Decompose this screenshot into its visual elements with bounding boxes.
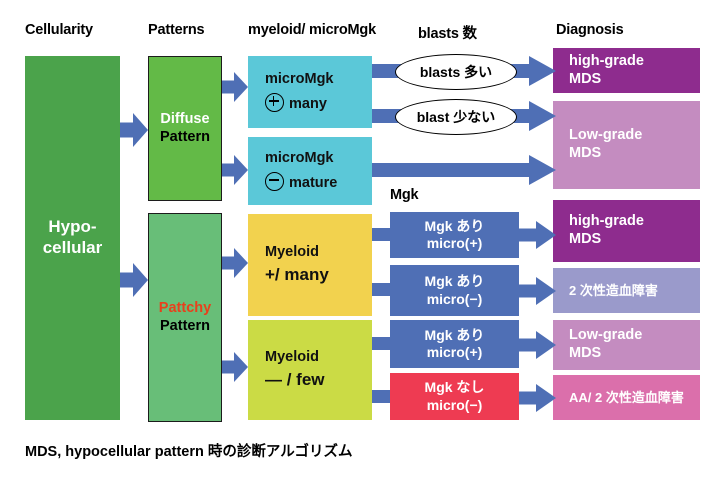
node-micromgk-plus-line2: many [289, 96, 327, 112]
node-micromgk-minus-line1: microMgk [265, 150, 372, 168]
node-diffuse-pattern-line2: Pattern [160, 129, 210, 147]
column-header-myeloid-micromgk: myeloid/ microMgk [248, 22, 376, 38]
node-diagnosis-low-grade-mds-1[interactable]: Low-grade MDS [553, 101, 700, 189]
arrow-pattchy-to-myeloid-many [222, 248, 250, 278]
node-dx-5-line1: Low-grade [569, 327, 700, 345]
column-header-cellularity: Cellularity [25, 22, 93, 38]
node-dx-6-line1: AA/ 2 次性造血障害 [569, 390, 700, 406]
node-diagnosis-secondary-hematopoietic[interactable]: 2 次性造血障害 [553, 268, 700, 313]
node-myeloid-few[interactable]: Myeloid — / few [248, 320, 372, 420]
arrow-micromgk-minus-to-low-grade [372, 155, 556, 185]
node-hypocellular-line2: cellular [43, 238, 103, 259]
diagram-canvas: Cellularity Patterns myeloid/ microMgk b… [0, 0, 722, 481]
arrow-mgk-3-to-low-grade [516, 330, 558, 360]
node-myeloid-many[interactable]: Myeloid +/ many [248, 214, 372, 316]
node-mgk-1-line1: Mgk あり [425, 218, 485, 235]
column-header-diagnosis: Diagnosis [556, 22, 624, 38]
node-micromgk-plus-line1: microMgk [265, 71, 372, 89]
column-header-blasts-count: blasts 数 [418, 22, 477, 43]
node-pattchy-pattern[interactable]: Pattchy Pattern [148, 213, 222, 422]
node-dx-1-line1: high-grade [569, 53, 700, 71]
node-mgk-3-line2: micro(+) [427, 344, 483, 361]
node-mgk-3-line1: Mgk あり [425, 327, 485, 344]
column-header-patterns: Patterns [148, 22, 204, 38]
node-myeloid-many-line1: Myeloid [265, 244, 372, 262]
node-micromgk-minus[interactable]: microMgk mature [248, 137, 372, 205]
node-dx-1-line2: MDS [569, 71, 700, 89]
arrow-mgk-2-to-secondary [516, 276, 558, 306]
node-mgk-1-line2: micro(+) [427, 235, 483, 252]
node-mgk-absent-micro-minus[interactable]: Mgk なし micro(−) [390, 373, 519, 420]
arrow-diffuse-to-micromgk-minus [222, 155, 250, 185]
node-hypocellular-line1: Hypo- [48, 217, 96, 238]
label-blast-few-text: blast 少ない [417, 107, 496, 127]
node-mgk-2-line1: Mgk あり [425, 273, 485, 290]
arrow-pattchy-to-myeloid-few [222, 352, 250, 382]
node-diagnosis-high-grade-mds-2[interactable]: high-grade MDS [553, 200, 700, 262]
node-mgk-present-micro-plus-2[interactable]: Mgk あり micro(+) [390, 320, 519, 368]
node-dx-5-line2: MDS [569, 345, 700, 363]
node-mgk-4-line1: Mgk なし [425, 379, 485, 396]
node-dx-3-line2: MDS [569, 231, 700, 249]
column-header-mgk: Mgk [390, 187, 418, 203]
label-blast-few[interactable]: blast 少ない [395, 99, 517, 135]
node-micromgk-plus[interactable]: microMgk many [248, 56, 372, 128]
node-dx-4-line1: 2 次性造血障害 [569, 283, 700, 299]
arrow-diffuse-to-micromgk-plus [222, 72, 250, 102]
node-mgk-present-micro-plus-1[interactable]: Mgk あり micro(+) [390, 212, 519, 258]
node-micromgk-minus-line2: mature [289, 175, 337, 191]
label-blasts-many-text: blasts 多い [420, 62, 492, 82]
node-diffuse-pattern[interactable]: Diffuse Pattern [148, 56, 222, 201]
node-diffuse-pattern-line1: Diffuse [160, 111, 209, 129]
node-diagnosis-aa-secondary[interactable]: AA/ 2 次性造血障害 [553, 375, 700, 420]
arrow-hypocellular-to-diffuse [120, 113, 148, 147]
node-mgk-2-line2: micro(−) [427, 291, 483, 308]
node-myeloid-few-line2: — / few [265, 370, 372, 391]
node-mgk-4-line2: micro(−) [427, 397, 483, 414]
node-hypocellular[interactable]: Hypo- cellular [25, 56, 120, 420]
node-diagnosis-low-grade-mds-2[interactable]: Low-grade MDS [553, 320, 700, 370]
arrow-mgk-1-to-high-grade [516, 220, 558, 250]
node-dx-3-line1: high-grade [569, 213, 700, 231]
node-myeloid-few-line1: Myeloid [265, 349, 372, 367]
label-blasts-many[interactable]: blasts 多い [395, 54, 517, 90]
plus-circle-icon [265, 93, 284, 112]
arrow-mgk-4-to-aa-secondary [516, 383, 558, 413]
minus-circle-icon [265, 172, 284, 191]
arrow-hypocellular-to-pattchy [120, 263, 148, 297]
node-dx-2-line2: MDS [569, 145, 700, 163]
node-pattchy-pattern-line1: Pattchy [159, 300, 211, 318]
node-dx-2-line1: Low-grade [569, 127, 700, 145]
node-myeloid-many-line2: +/ many [265, 265, 372, 286]
node-diagnosis-high-grade-mds-1[interactable]: high-grade MDS [553, 48, 700, 93]
node-mgk-present-micro-minus[interactable]: Mgk あり micro(−) [390, 265, 519, 316]
node-pattchy-pattern-line2: Pattern [160, 318, 210, 336]
figure-caption: MDS, hypocellular pattern 時の診断アルゴリズム [25, 440, 352, 461]
